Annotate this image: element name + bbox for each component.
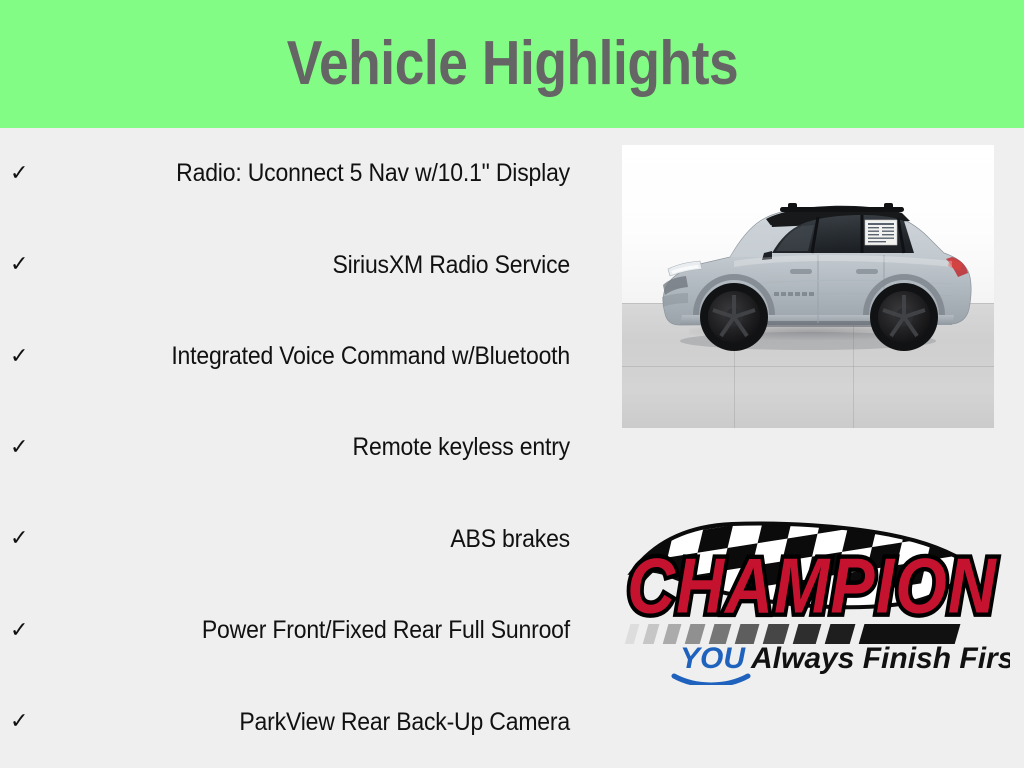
list-item: ✓ Integrated Voice Command w/Bluetooth	[0, 311, 600, 402]
dealer-logo: CHAMPION YOU A	[614, 500, 1010, 685]
right-column: CHAMPION YOU A	[600, 128, 1024, 768]
feature-label: Integrated Voice Command w/Bluetooth	[81, 342, 570, 371]
list-item: ✓ Radio: Uconnect 5 Nav w/10.1" Display	[0, 128, 600, 219]
check-icon: ✓	[10, 254, 38, 276]
champion-wordmark-text: CHAMPION	[627, 544, 997, 630]
dealer-tagline: YOU Always Finish First	[674, 642, 1010, 685]
check-icon: ✓	[10, 437, 38, 459]
check-icon: ✓	[10, 528, 38, 550]
list-item: ✓ SiriusXM Radio Service	[0, 219, 600, 310]
champion-logo-graphic: CHAMPION YOU A	[614, 500, 1010, 685]
vehicle-features-list: ✓ Radio: Uconnect 5 Nav w/10.1" Display …	[0, 128, 600, 768]
list-item: ✓ ABS brakes	[0, 494, 600, 585]
vehicle-highlights-page: Vehicle Highlights ✓ Radio: Uconnect 5 N…	[0, 0, 1024, 768]
feature-label: ParkView Rear Back-Up Camera	[81, 708, 570, 737]
list-item: ✓ Power Front/Fixed Rear Full Sunroof	[0, 585, 600, 676]
jeep-compass-illustration	[622, 145, 994, 428]
tagline-underline-swoosh	[674, 676, 748, 685]
page-title: Vehicle Highlights	[286, 33, 738, 95]
feature-label: ABS brakes	[81, 525, 570, 554]
list-item: ✓ ParkView Rear Back-Up Camera	[0, 677, 600, 768]
feature-label: Remote keyless entry	[81, 433, 570, 462]
list-item: ✓ Remote keyless entry	[0, 402, 600, 493]
tagline-rest: Always Finish First	[750, 642, 1010, 675]
check-icon: ✓	[10, 346, 38, 368]
feature-label: Radio: Uconnect 5 Nav w/10.1" Display	[81, 159, 570, 188]
feature-label: SiriusXM Radio Service	[81, 251, 570, 280]
feature-label: Power Front/Fixed Rear Full Sunroof	[81, 616, 570, 645]
champion-wordmark: CHAMPION	[627, 544, 997, 630]
tagline-you: YOU	[680, 642, 746, 675]
header-band: Vehicle Highlights	[0, 0, 1024, 128]
check-icon: ✓	[10, 711, 38, 733]
check-icon: ✓	[10, 620, 38, 642]
check-icon: ✓	[10, 163, 38, 185]
vehicle-photo	[622, 145, 994, 428]
